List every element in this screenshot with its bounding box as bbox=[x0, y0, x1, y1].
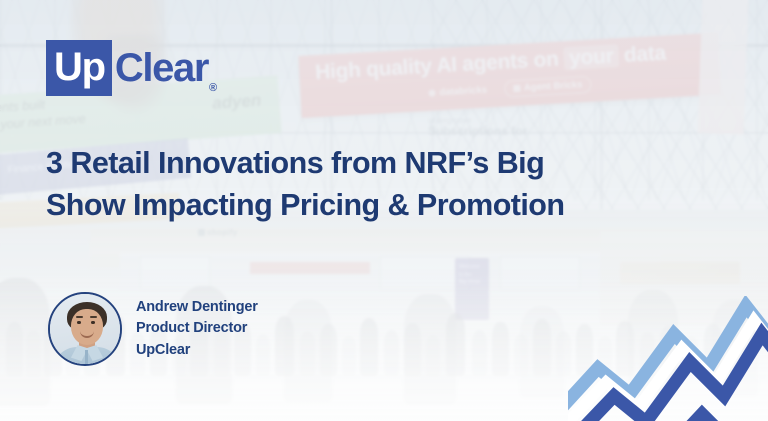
avatar-eyebrow-right bbox=[90, 316, 97, 318]
mountain-graphic bbox=[568, 296, 768, 421]
upclear-logo-word-text: Clear bbox=[115, 46, 208, 90]
author-details: Andrew Dentinger Product Director UpClea… bbox=[136, 297, 258, 360]
page-title: 3 Retail Innovations from NRF’s Big Show… bbox=[46, 142, 686, 226]
avatar-eyebrow-left bbox=[76, 316, 83, 318]
avatar-face bbox=[71, 309, 103, 345]
author-name: Andrew Dentinger bbox=[136, 297, 258, 318]
mountain-svg bbox=[568, 296, 768, 421]
registered-trademark-icon: ® bbox=[209, 82, 216, 94]
author-role: Product Director bbox=[136, 318, 258, 339]
mountain-line-dark-2 bbox=[672, 414, 734, 421]
upclear-logo[interactable]: Up Clear® bbox=[46, 40, 215, 96]
page-title-line-2: Show Impacting Pricing & Promotion bbox=[46, 184, 686, 226]
avatar-eye-right bbox=[91, 321, 95, 324]
avatar bbox=[48, 292, 122, 366]
upclear-logo-wordmark: Clear® bbox=[115, 48, 215, 88]
upclear-logo-mark: Up bbox=[46, 40, 112, 96]
author-byline: Andrew Dentinger Product Director UpClea… bbox=[48, 292, 258, 366]
article-hero-banner: High quality AI agents on your data data… bbox=[0, 0, 768, 421]
page-title-line-1: 3 Retail Innovations from NRF’s Big bbox=[46, 142, 686, 184]
banner-content: Up Clear® 3 Retail Innovations from NRF’… bbox=[0, 0, 768, 421]
author-company: UpClear bbox=[136, 340, 258, 361]
avatar-eye-left bbox=[77, 321, 81, 324]
avatar-shirt-placket bbox=[85, 350, 88, 366]
